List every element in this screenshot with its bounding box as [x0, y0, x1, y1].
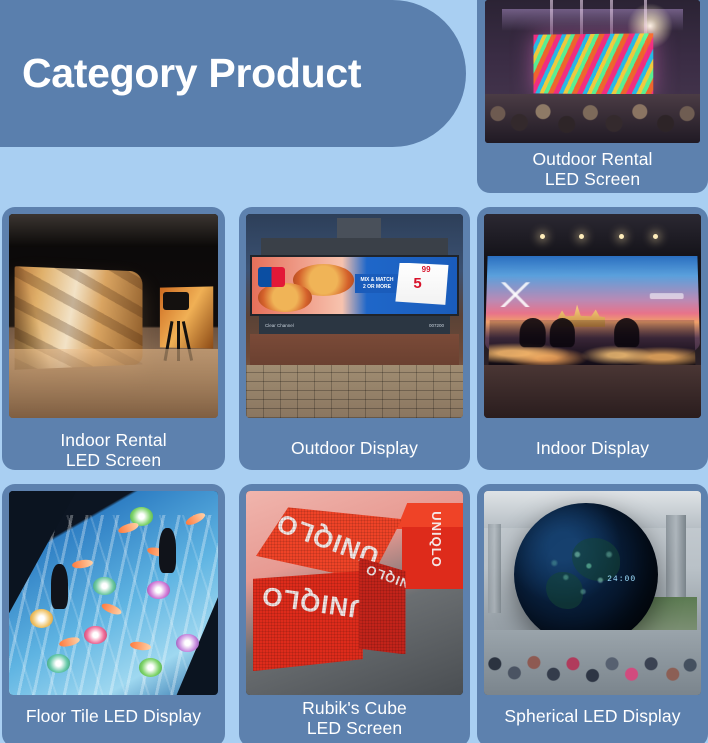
- panel-id: 007200: [429, 323, 444, 328]
- koi-pond-floor-illustration: [9, 491, 218, 695]
- festival-crowd: [485, 94, 700, 143]
- price-tag: 5 99: [395, 263, 448, 305]
- product-card-floor-tile[interactable]: Floor Tile LED Display: [2, 484, 225, 743]
- tree-silhouette: [614, 318, 640, 347]
- label-line-2: LED Screen: [2, 450, 225, 470]
- exceptional-logo-icon: [497, 282, 534, 306]
- cube-logo-text: UNIQLO: [260, 580, 370, 626]
- venue-floor: [484, 365, 701, 418]
- building-facade: [250, 334, 458, 367]
- led-stage-screen: [534, 34, 654, 95]
- cube-face-front: UNIQLO: [253, 571, 363, 671]
- product-image-indoor-display: [484, 214, 701, 418]
- product-card-outdoor-display[interactable]: MIX & MATCH 2 OR MORE 5 99 Clear Channel…: [239, 207, 470, 470]
- pizza-graphic: [258, 283, 311, 312]
- lotus-flower: [30, 609, 53, 627]
- label-line-1: Rubik's Cube: [239, 698, 470, 718]
- product-image-indoor-rental: [9, 214, 218, 418]
- product-image-outdoor-rental: [485, 0, 700, 143]
- product-image-floor-tile: [9, 491, 218, 695]
- cube-face-side: UNIQLO: [359, 557, 405, 654]
- product-label-spherical: Spherical LED Display: [477, 706, 708, 726]
- cube-logo-text: UNIQLO: [363, 562, 421, 595]
- product-label-indoor-display: Indoor Display: [477, 438, 708, 458]
- product-label-outdoor-rental: Outdoor Rental LED Screen: [477, 149, 708, 190]
- lotus-flower: [139, 658, 162, 676]
- studio-ceiling: [9, 214, 218, 247]
- billboard-illustration: MIX & MATCH 2 OR MORE 5 99 Clear Channel…: [246, 214, 463, 418]
- continent-shape: [546, 572, 583, 609]
- label-line-1: Indoor Rental: [2, 430, 225, 450]
- product-image-rubiks-cube: UNIQLO UNIQLO UNIQLO UNIQLO: [246, 491, 463, 695]
- spherical-led-globe: 24:00: [514, 503, 657, 646]
- visitor-silhouette: [159, 528, 176, 573]
- dominos-logo: [258, 267, 285, 286]
- ad-headline: MIX & MATCH 2 OR MORE: [355, 274, 400, 293]
- lotus-flower: [84, 626, 107, 644]
- venue-ceiling: [484, 214, 701, 259]
- header-banner: Category Product: [0, 0, 466, 147]
- camera-body: [163, 292, 189, 310]
- label-line-1: Outdoor Rental: [477, 149, 708, 169]
- ceiling-spotlight: [619, 234, 624, 239]
- label-line-2: LED Screen: [239, 718, 470, 738]
- label-line-2: LED Screen: [477, 169, 708, 189]
- concert-stage-illustration: [485, 0, 700, 143]
- product-card-indoor-display[interactable]: Indoor Display: [477, 207, 708, 470]
- reflective-floor: [9, 349, 218, 418]
- lotus-flower: [93, 577, 116, 595]
- price-dollars: 5: [413, 276, 421, 291]
- operator-strip: Clear Channel 007200: [259, 316, 450, 334]
- product-card-outdoor-rental[interactable]: Outdoor Rental LED Screen: [477, 0, 708, 193]
- ad-headline-line-2: 2 OR MORE: [363, 284, 391, 290]
- product-card-spherical[interactable]: 24:00 Spherical LED Display: [477, 484, 708, 743]
- studio-led-wall-illustration: [9, 214, 218, 418]
- product-label-rubiks-cube: Rubik's Cube LED Screen: [239, 698, 470, 739]
- product-card-rubiks-cube[interactable]: UNIQLO UNIQLO UNIQLO UNIQLO Rubik's Cube: [239, 484, 470, 743]
- product-image-outdoor-display: MIX & MATCH 2 OR MORE 5 99 Clear Channel…: [246, 214, 463, 418]
- visitor-silhouette: [51, 564, 68, 609]
- panoramic-led-illustration: [484, 214, 701, 418]
- product-label-outdoor-display: Outdoor Display: [239, 438, 470, 458]
- price-cents: 99: [422, 266, 431, 274]
- globe-clock-readout: 24:00: [607, 575, 636, 584]
- tree-silhouette: [550, 318, 576, 347]
- billboard-led-panel: MIX & MATCH 2 OR MORE 5 99: [250, 255, 458, 316]
- billboard-top-frame: [261, 238, 448, 254]
- cube-logo-text: UNIQLO: [429, 512, 444, 569]
- operator-name: Clear Channel: [265, 323, 294, 328]
- product-card-indoor-rental[interactable]: Indoor Rental LED Screen: [2, 207, 225, 470]
- tree-silhouette: [519, 318, 545, 347]
- uniqlo-cube-illustration: UNIQLO UNIQLO UNIQLO UNIQLO: [246, 491, 463, 695]
- standing-audience: [484, 630, 701, 695]
- brick-wall: [246, 365, 463, 418]
- curved-led-screen: [485, 256, 701, 368]
- abbvie-logo: [650, 293, 684, 299]
- lotus-flower: [147, 581, 170, 599]
- product-label-floor-tile: Floor Tile LED Display: [2, 706, 225, 726]
- product-label-indoor-rental: Indoor Rental LED Screen: [2, 430, 225, 470]
- product-image-spherical: 24:00: [484, 491, 701, 695]
- lotus-flower: [47, 654, 70, 672]
- main-cube: UNIQLO UNIQLO UNIQLO: [253, 507, 431, 674]
- support-pillar: [488, 524, 501, 614]
- continent-shape: [572, 538, 621, 581]
- page-title: Category Product: [0, 53, 361, 94]
- globe-led-illustration: 24:00: [484, 491, 701, 695]
